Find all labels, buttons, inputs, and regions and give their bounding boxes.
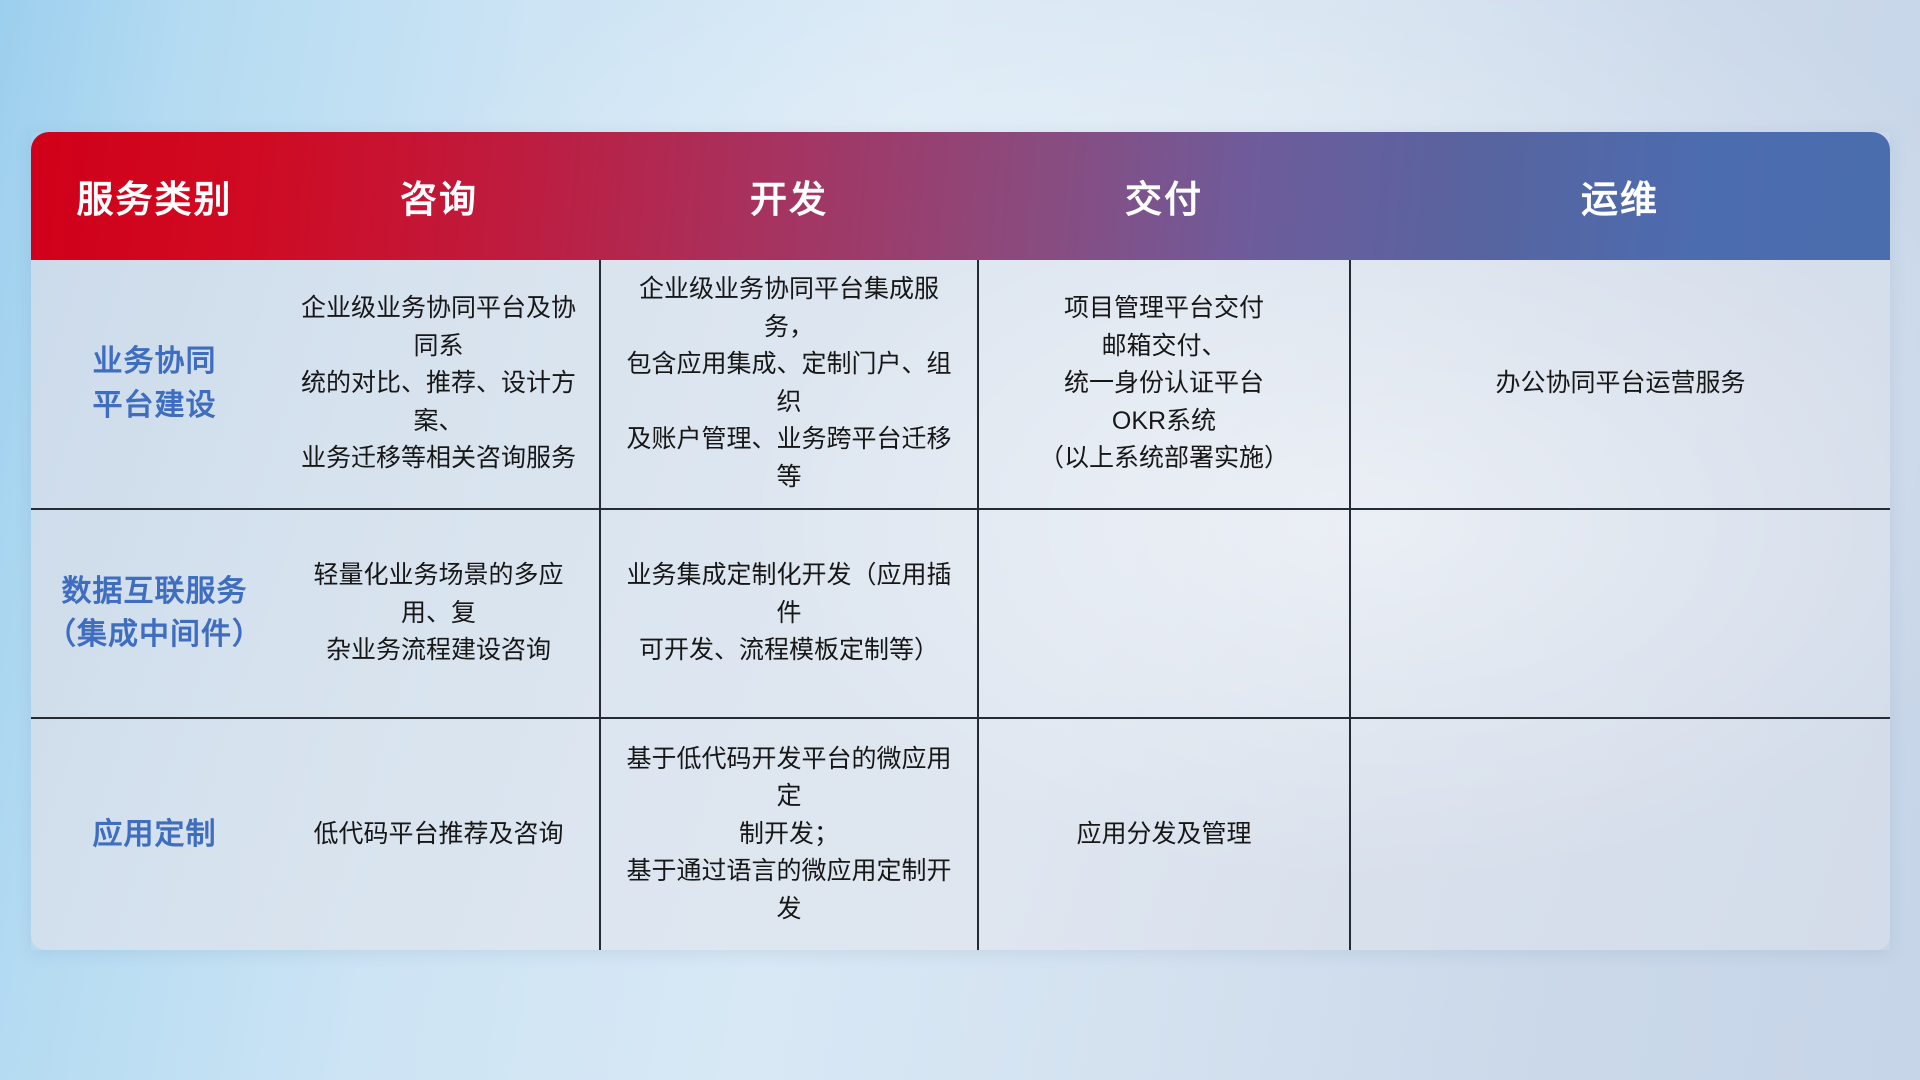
column-header-label: 交付 (978, 169, 1350, 223)
text-line: 制开发； (615, 816, 963, 854)
text-line: 企业级业务协同平台集成服务， (615, 271, 963, 346)
text-line: 统的对比、推荐、设计方案、 (292, 365, 585, 440)
column-header-label: 服务类别 (31, 169, 278, 223)
header-row: 服务类别 咨询 开发 交付 运维 (31, 132, 1890, 260)
row-category-label: 应用定制 (31, 718, 278, 950)
text-line: （集成中间件） (45, 613, 264, 657)
text-line: （以上系统部署实施） (993, 440, 1335, 478)
text-line: 低代码平台推荐及咨询 (292, 816, 585, 854)
cell-consult: 低代码平台推荐及咨询 (278, 718, 600, 950)
cell-develop: 基于低代码开发平台的微应用定制开发；基于通过语言的微应用定制开发 (600, 718, 978, 950)
cell-develop: 企业级业务协同平台集成服务，包含应用集成、定制门户、组织及账户管理、业务跨平台迁… (600, 260, 978, 509)
text-line: 及账户管理、业务跨平台迁移等 (615, 421, 963, 496)
row-category-label: 业务协同平台建设 (31, 260, 278, 509)
text-line: 应用分发及管理 (993, 816, 1335, 854)
cell-ops (1350, 509, 1890, 718)
text-line: OKR系统 (993, 403, 1335, 441)
column-header-ops: 运维 (1350, 132, 1890, 260)
text-line: 数据互联服务 (45, 570, 264, 614)
cell-deliver: 应用分发及管理 (978, 718, 1350, 950)
text-line: 项目管理平台交付 (993, 290, 1335, 328)
table-row: 业务协同平台建设 企业级业务协同平台及协同系统的对比、推荐、设计方案、业务迁移等… (31, 260, 1890, 509)
service-matrix-table: 服务类别 咨询 开发 交付 运维 (31, 132, 1890, 950)
cell-deliver: 项目管理平台交付邮箱交付、统一身份认证平台OKR系统（以上系统部署实施） (978, 260, 1350, 509)
column-header-category: 服务类别 (31, 132, 278, 260)
column-header-deliver: 交付 (978, 132, 1350, 260)
cell-ops: 办公协同平台运营服务 (1350, 260, 1890, 509)
table-row: 应用定制 低代码平台推荐及咨询 基于低代码开发平台的微应用定制开发；基于通过语言… (31, 718, 1890, 950)
column-header-label: 咨询 (278, 169, 600, 223)
text-line: 业务协同 (45, 340, 264, 384)
text-line: 业务集成定制化开发（应用插件 (615, 557, 963, 632)
text-line: 基于通过语言的微应用定制开发 (615, 853, 963, 928)
row-category-label: 数据互联服务（集成中间件） (31, 509, 278, 718)
text-line: 可开发、流程模板定制等） (615, 632, 963, 670)
slide-canvas: 服务类别 咨询 开发 交付 运维 (0, 0, 1920, 1080)
cell-ops (1350, 718, 1890, 950)
cell-consult: 企业级业务协同平台及协同系统的对比、推荐、设计方案、业务迁移等相关咨询服务 (278, 260, 600, 509)
cell-deliver (978, 509, 1350, 718)
text-line: 业务迁移等相关咨询服务 (292, 440, 585, 478)
column-header-label: 开发 (600, 169, 978, 223)
text-line: 统一身份认证平台 (993, 365, 1335, 403)
column-header-label: 运维 (1350, 169, 1890, 223)
text-line: 包含应用集成、定制门户、组织 (615, 346, 963, 421)
text-line: 应用定制 (45, 813, 264, 857)
cell-consult: 轻量化业务场景的多应用、复杂业务流程建设咨询 (278, 509, 600, 718)
column-header-develop: 开发 (600, 132, 978, 260)
text-line: 办公协同平台运营服务 (1365, 365, 1876, 403)
table-header: 服务类别 咨询 开发 交付 运维 (31, 132, 1890, 260)
text-line: 企业级业务协同平台及协同系 (292, 290, 585, 365)
table-body: 业务协同平台建设 企业级业务协同平台及协同系统的对比、推荐、设计方案、业务迁移等… (31, 260, 1890, 950)
cell-develop: 业务集成定制化开发（应用插件可开发、流程模板定制等） (600, 509, 978, 718)
text-line: 平台建设 (45, 384, 264, 428)
text-line: 基于低代码开发平台的微应用定 (615, 741, 963, 816)
text-line: 杂业务流程建设咨询 (292, 632, 585, 670)
text-line: 邮箱交付、 (993, 328, 1335, 366)
table-row: 数据互联服务（集成中间件） 轻量化业务场景的多应用、复杂业务流程建设咨询 业务集… (31, 509, 1890, 718)
text-line: 轻量化业务场景的多应用、复 (292, 557, 585, 632)
column-header-consult: 咨询 (278, 132, 600, 260)
